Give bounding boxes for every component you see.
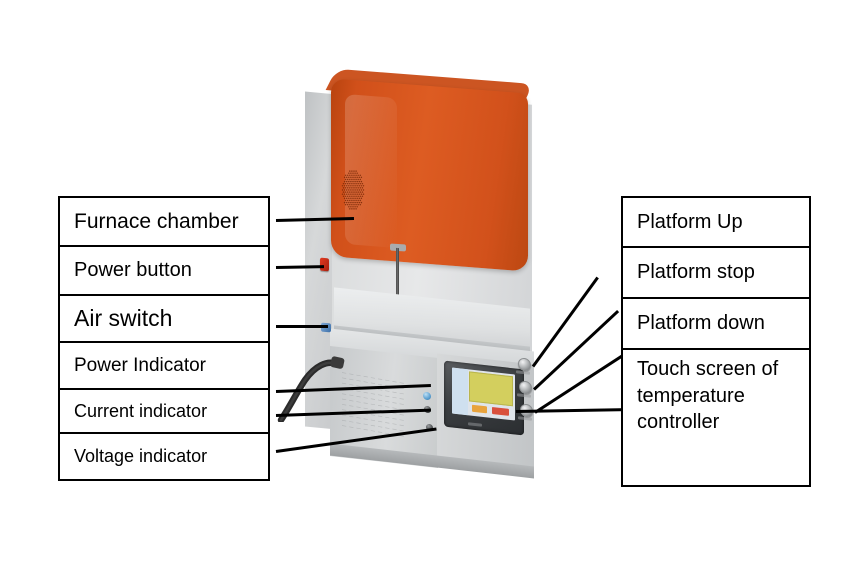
label-platform-up: Platform Up <box>623 198 809 248</box>
base-vent-slots-icon <box>338 368 408 438</box>
label-furnace-chamber: Furnace chamber <box>60 198 268 247</box>
leader-line-air-switch <box>276 325 328 328</box>
label-touch-screen-temperature-controller: Touch screen of temperature controller <box>623 350 809 485</box>
screen-button-orange[interactable] <box>472 405 487 414</box>
touchscreen-display[interactable] <box>452 367 515 420</box>
diagram-canvas: Furnace chamber Power button Air switch … <box>0 0 864 564</box>
vent-grille-icon <box>338 167 368 213</box>
screen-temperature-chart <box>469 371 513 406</box>
screen-side-panel <box>452 367 468 415</box>
screen-button-red[interactable] <box>492 407 509 416</box>
label-touch-screen-line-3: controller <box>637 409 809 436</box>
label-touch-screen-line-2: temperature <box>637 383 809 410</box>
left-label-group: Furnace chamber Power button Air switch … <box>58 196 270 481</box>
label-power-indicator: Power Indicator <box>60 343 268 390</box>
label-power-button: Power button <box>60 247 268 296</box>
label-air-switch: Air switch <box>60 296 268 343</box>
label-platform-stop: Platform stop <box>623 248 809 299</box>
label-platform-down: Platform down <box>623 299 809 350</box>
label-touch-screen-line-1: Touch screen of <box>637 356 809 383</box>
label-current-indicator: Current indicator <box>60 390 268 434</box>
label-voltage-indicator: Voltage indicator <box>60 434 268 479</box>
right-label-group: Platform Up Platform stop Platform down … <box>621 196 811 487</box>
power-indicator-lamp <box>423 392 431 401</box>
